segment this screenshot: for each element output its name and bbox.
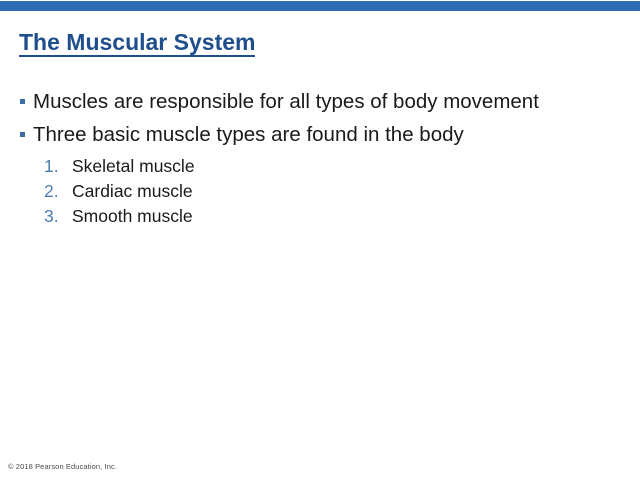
list-item-number: 1. — [44, 154, 68, 179]
presentation-slide: The Muscular System Muscles are responsi… — [0, 0, 640, 480]
top-accent-bar — [0, 1, 640, 11]
list-item-label: Cardiac muscle — [72, 179, 193, 204]
bullet-item: Muscles are responsible for all types of… — [0, 88, 640, 115]
copyright-footer: © 2018 Pearson Education, Inc. — [8, 462, 117, 471]
bullet-item-label: Three basic muscle types are found in th… — [33, 123, 464, 146]
list-item-number: 2. — [44, 179, 68, 204]
page-title: The Muscular System — [19, 29, 255, 57]
bullet-item-label: Muscles are responsible for all types of… — [33, 90, 539, 113]
list-item: 1. Skeletal muscle — [0, 154, 640, 179]
list-item-label: Smooth muscle — [72, 204, 193, 229]
square-bullet-icon — [20, 99, 25, 104]
list-item-label: Skeletal muscle — [72, 154, 195, 179]
list-item: 2. Cardiac muscle — [0, 179, 640, 204]
list-item: 3. Smooth muscle — [0, 204, 640, 229]
list-item-number: 3. — [44, 204, 68, 229]
slide-body: Muscles are responsible for all types of… — [0, 88, 640, 229]
page-title-text: The Muscular System — [19, 30, 255, 57]
bullet-item: Three basic muscle types are found in th… — [0, 121, 640, 148]
square-bullet-icon — [20, 132, 25, 137]
numbered-list: 1. Skeletal muscle 2. Cardiac muscle 3. … — [0, 154, 640, 229]
